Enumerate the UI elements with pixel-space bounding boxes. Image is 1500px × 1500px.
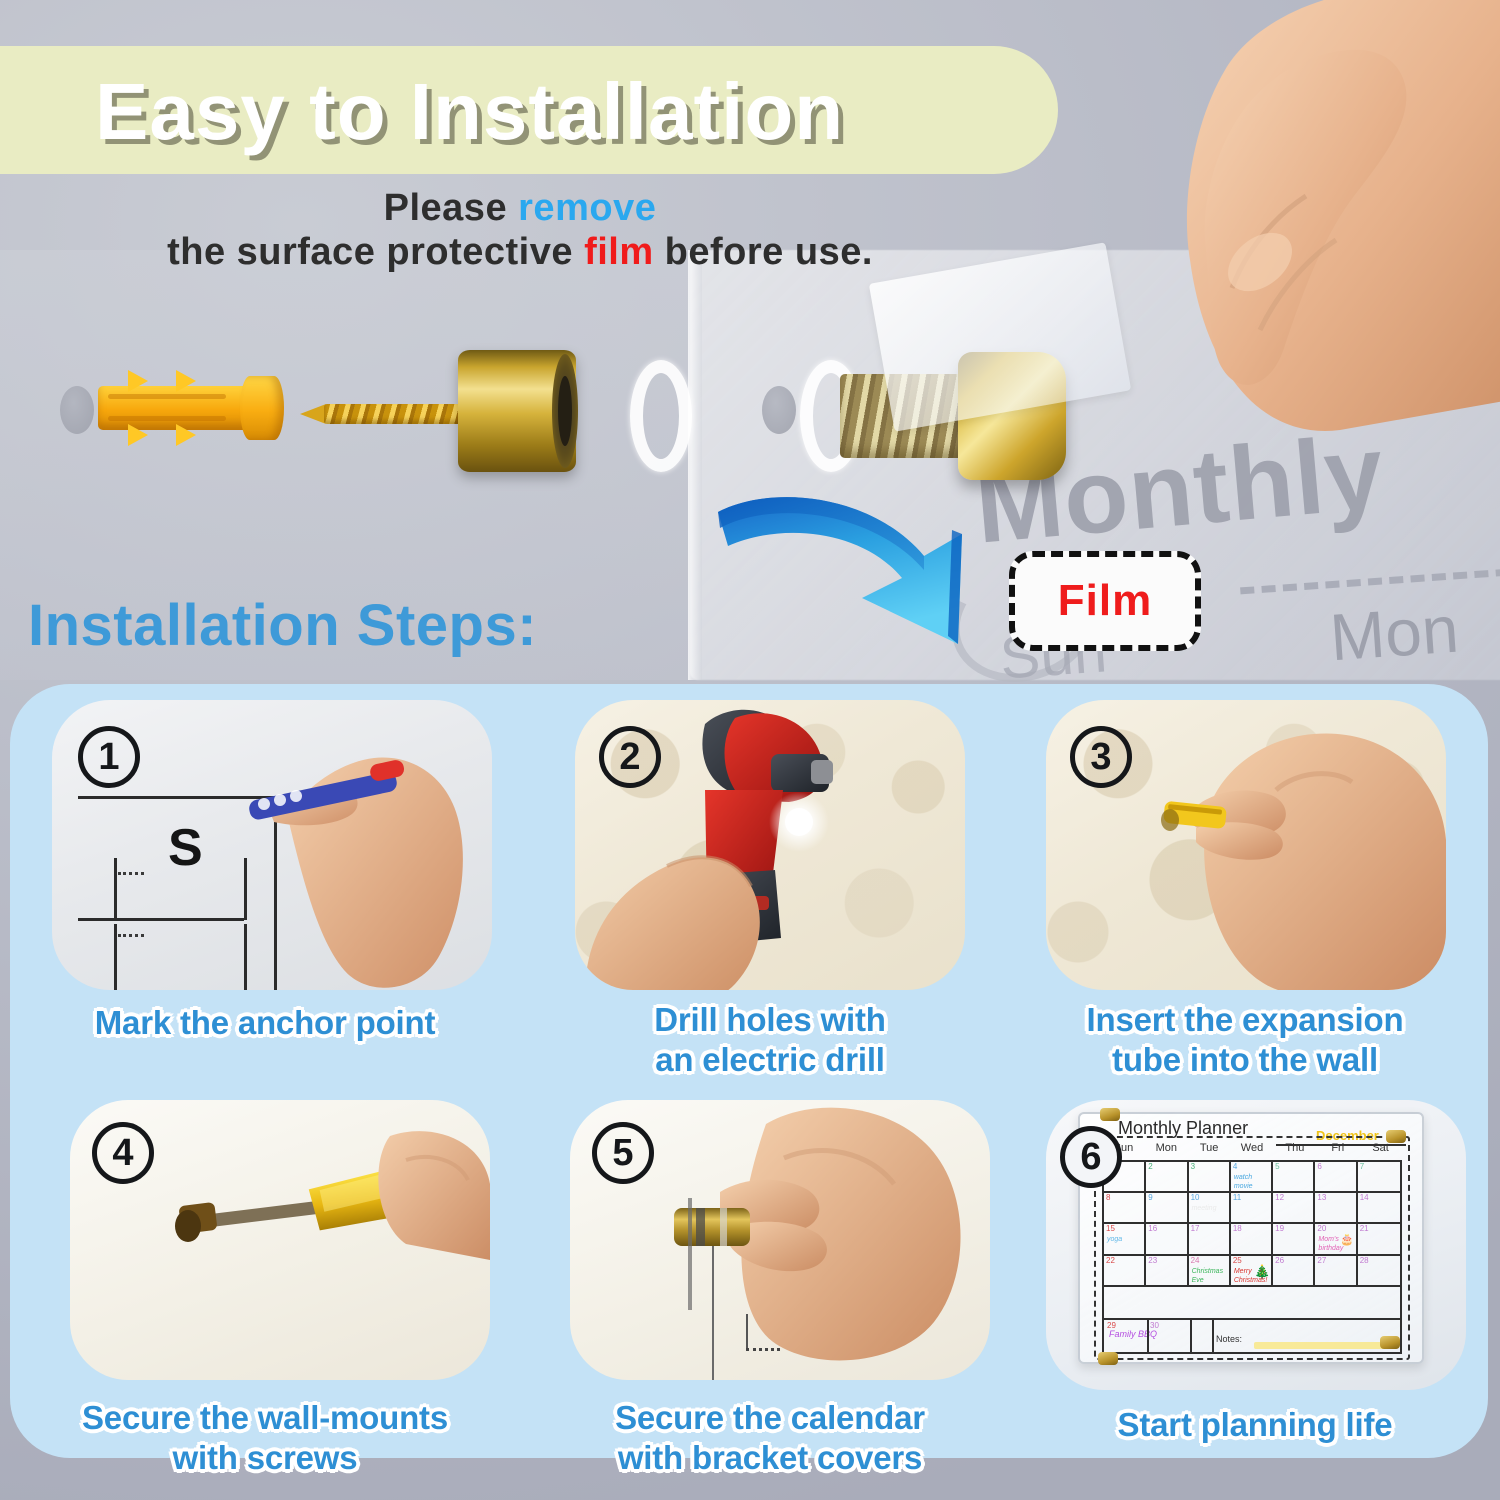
film-callout-badge: Film xyxy=(1009,551,1201,651)
brass-sleeve-icon xyxy=(458,350,576,472)
step-caption-6-line-1: Start planning life xyxy=(1045,1405,1465,1445)
step-caption-3: Insert the expansion tube into the wall xyxy=(1020,1000,1470,1080)
hand-peeling-film-illustration xyxy=(1010,0,1500,520)
step-caption-4: Secure the wall-mounts with screws xyxy=(30,1398,500,1478)
subtitle-line-1: Please remove xyxy=(0,186,1040,230)
step-card-6[interactable]: Monthly Planner December Sun Mon Tue Wed… xyxy=(1046,1100,1466,1390)
step-number-badge-6: 6 xyxy=(1060,1126,1122,1188)
subtitle-line-2: the surface protective film before use. xyxy=(0,230,1040,274)
step-caption-5: Secure the calendar with bracket covers xyxy=(545,1398,995,1478)
bracket-cover-bottom-right xyxy=(1380,1336,1400,1349)
bracket-cover-bottom-left xyxy=(1098,1352,1118,1365)
step-caption-4-line-1: Secure the wall-mounts xyxy=(30,1398,500,1438)
step-caption-2: Drill holes with an electric drill xyxy=(560,1000,980,1080)
step-number-badge-1: 1 xyxy=(78,726,140,788)
step-caption-3-line-2: tube into the wall xyxy=(1020,1040,1470,1080)
wall-hole-icon xyxy=(60,386,94,434)
step-card-1[interactable]: S 1 xyxy=(52,700,492,990)
board-hole-icon xyxy=(762,386,796,434)
board-ghost-mon-text: Mon xyxy=(1328,591,1461,676)
film-callout-label: Film xyxy=(1058,576,1152,626)
subtitle-remove-highlight: remove xyxy=(518,187,656,229)
step-card-2[interactable]: 2 xyxy=(575,700,965,990)
subtitle-line1-pre: Please xyxy=(384,187,519,229)
step-caption-2-line-2: an electric drill xyxy=(560,1040,980,1080)
bracket-cover-top-left xyxy=(1100,1108,1120,1121)
expansion-anchor-icon xyxy=(98,372,288,444)
step-caption-4-line-2: with screws xyxy=(30,1438,500,1478)
step-card-5[interactable]: S 5 xyxy=(570,1100,990,1380)
step-caption-5-line-2: with bracket covers xyxy=(545,1438,995,1478)
step-caption-2-line-1: Drill holes with xyxy=(560,1000,980,1040)
installation-steps-heading: Installation Steps: xyxy=(28,592,537,659)
subtitle-line2-pre: the surface protective xyxy=(167,231,584,273)
step-card-4[interactable]: 4 xyxy=(70,1100,490,1380)
step-caption-1: Mark the anchor point xyxy=(30,1003,500,1043)
subtitle-line2-post: before use. xyxy=(654,231,873,273)
step-card-3[interactable]: 3 xyxy=(1046,700,1446,990)
bracket-cover-top-right xyxy=(1386,1130,1406,1143)
acrylic-board-edge xyxy=(688,250,702,680)
step-number-badge-2: 2 xyxy=(599,726,661,788)
clear-washer-left-icon xyxy=(630,360,692,472)
subtitle-film-highlight: film xyxy=(584,231,654,273)
step-number-badge-5: 5 xyxy=(592,1122,654,1184)
step-number-badge-4: 4 xyxy=(92,1122,154,1184)
page-title: Easy to Installation xyxy=(95,56,844,168)
planner-film-dashed-outline xyxy=(1094,1136,1410,1360)
subtitle-text: Please remove the surface protective fil… xyxy=(0,186,1040,274)
step-caption-5-line-1: Secure the calendar xyxy=(545,1398,995,1438)
step-number-badge-3: 3 xyxy=(1070,726,1132,788)
step-caption-1-line-1: Mark the anchor point xyxy=(30,1003,500,1043)
mini-monthly-planner: Monthly Planner December Sun Mon Tue Wed… xyxy=(1078,1112,1424,1364)
blue-arrow-icon xyxy=(712,494,1012,674)
step-caption-3-line-1: Insert the expansion xyxy=(1020,1000,1470,1040)
step-caption-6: Start planning life xyxy=(1045,1405,1465,1445)
